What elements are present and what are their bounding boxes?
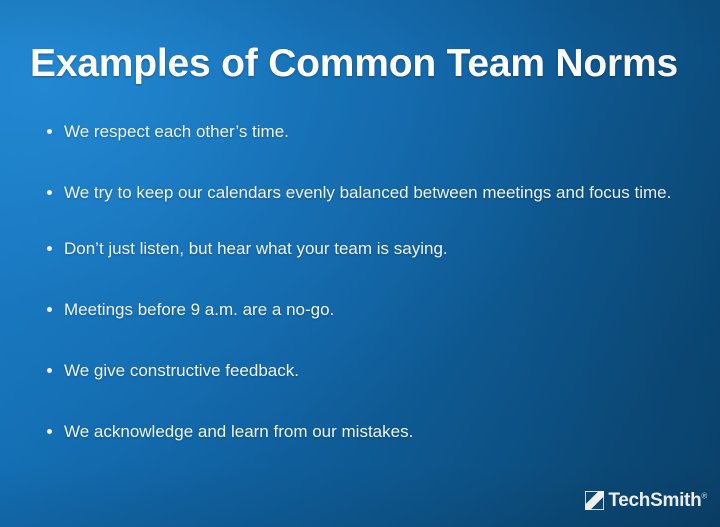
bullet-dot-icon <box>47 190 52 195</box>
list-item: We try to keep our calendars evenly bala… <box>44 179 698 207</box>
list-item-label: Meetings before 9 a.m. are a no-go. <box>64 300 334 319</box>
list-item-label: Don’t just listen, but hear what your te… <box>64 239 448 258</box>
bullet-dot-icon <box>47 307 52 312</box>
list-item: Meetings before 9 a.m. are a no-go. <box>44 296 698 324</box>
list-item-label: We respect each other’s time. <box>64 122 289 141</box>
techsmith-wordmark: TechSmith® <box>608 491 707 510</box>
slide-canvas: Examples of Common Team Norms We respect… <box>0 0 720 527</box>
bullet-dot-icon <box>47 246 52 251</box>
techsmith-logo-icon <box>585 491 604 510</box>
team-norms-bullet-list: We respect each other’s time. We try to … <box>44 118 698 446</box>
registered-trademark-icon: ® <box>701 492 707 501</box>
list-item-label: We try to keep our calendars evenly bala… <box>64 183 671 202</box>
bullet-dot-icon <box>47 368 52 373</box>
bullet-dot-icon <box>47 129 52 134</box>
bullet-dot-icon <box>47 429 52 434</box>
list-item-label: We acknowledge and learn from our mistak… <box>64 422 413 441</box>
list-item: Don’t just listen, but hear what your te… <box>44 235 698 263</box>
page-title: Examples of Common Team Norms <box>30 41 678 87</box>
list-item-label: We give constructive feedback. <box>64 361 299 380</box>
techsmith-logo: TechSmith® <box>585 491 707 510</box>
techsmith-wordmark-text: TechSmith <box>608 490 701 511</box>
list-item: We acknowledge and learn from our mistak… <box>44 418 698 446</box>
list-item: We give constructive feedback. <box>44 357 698 385</box>
list-item: We respect each other’s time. <box>44 118 698 146</box>
